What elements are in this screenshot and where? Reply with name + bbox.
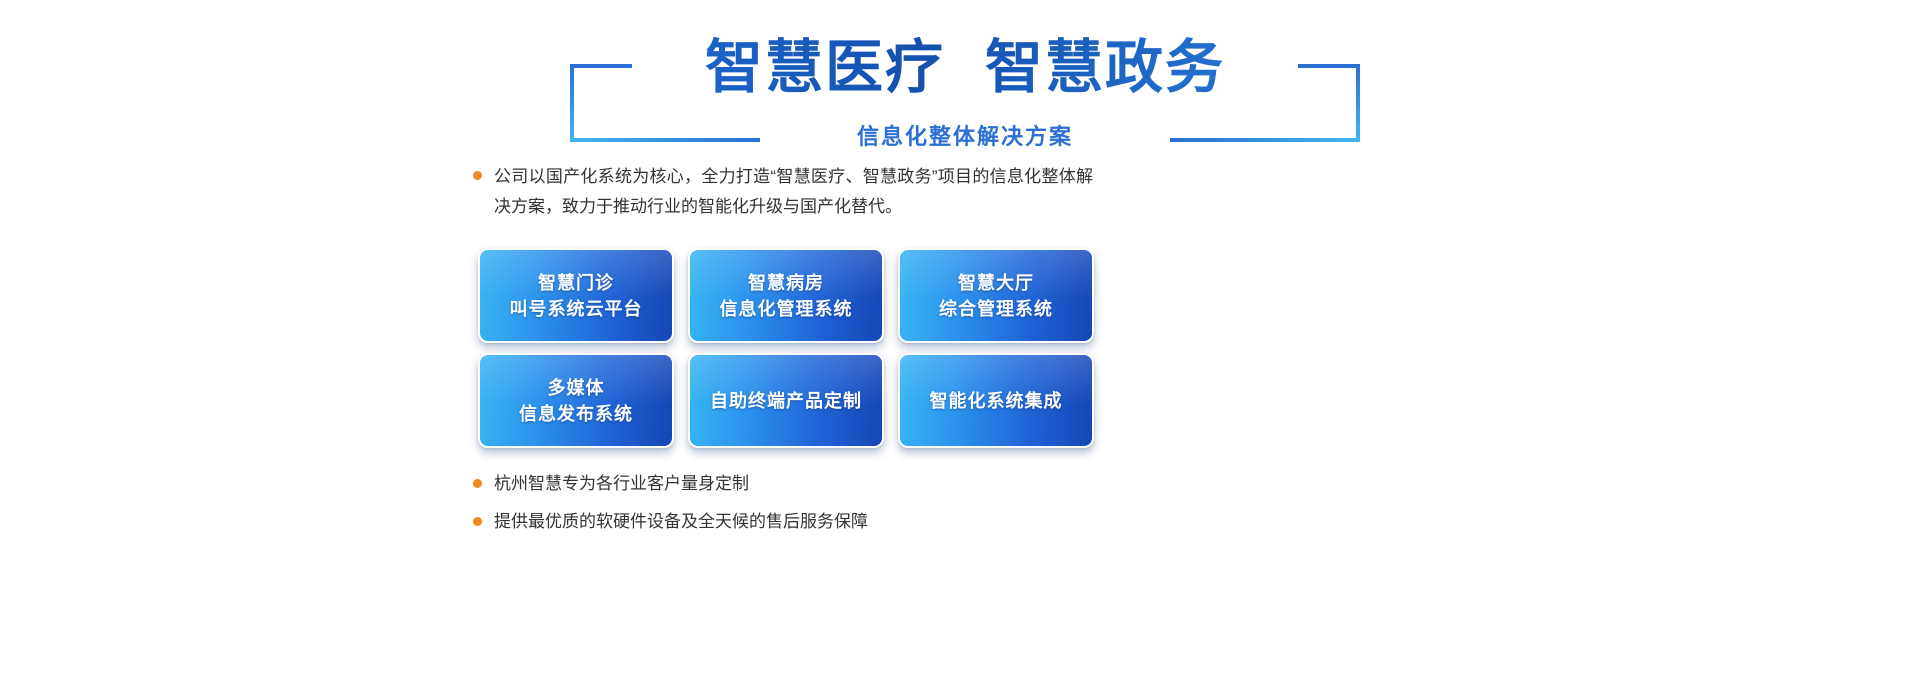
solution-card-label: 智慧门诊 叫号系统云平台 xyxy=(502,270,651,322)
solution-card-label: 自助终端产品定制 xyxy=(702,388,870,414)
list-item: 杭州智慧专为各行业客户量身定制 xyxy=(473,472,1113,496)
list-item-label: 杭州智慧专为各行业客户量身定制 xyxy=(494,472,749,496)
page-title: 智慧医疗智慧政务 xyxy=(570,32,1360,104)
solution-card[interactable]: 多媒体 信息发布系统 xyxy=(478,353,674,448)
solution-card[interactable]: 智慧病房 信息化管理系统 xyxy=(688,248,884,343)
solution-card[interactable]: 智慧门诊 叫号系统云平台 xyxy=(478,248,674,343)
solution-card[interactable]: 智慧大厅 综合管理系统 xyxy=(898,248,1094,343)
solution-card-label: 多媒体 信息发布系统 xyxy=(511,375,641,427)
solution-card[interactable]: 智能化系统集成 xyxy=(898,353,1094,448)
page-title-part-2: 智慧政务 xyxy=(985,35,1225,100)
intro-paragraph: 公司以国产化系统为核心，全力打造“智慧医疗、智慧政务”项目的信息化整体解决方案，… xyxy=(473,162,1093,222)
bullet-dot-icon xyxy=(473,517,482,526)
solution-card-grid: 智慧门诊 叫号系统云平台 智慧病房 信息化管理系统 智慧大厅 综合管理系统 多媒… xyxy=(478,248,1094,448)
page-subtitle: 信息化整体解决方案 xyxy=(570,124,1360,150)
list-item: 提供最优质的软硬件设备及全天候的售后服务保障 xyxy=(473,510,1113,534)
bullet-dot-icon xyxy=(473,479,482,488)
promo-banner-page: 智慧医疗智慧政务 信息化整体解决方案 公司以国产化系统为核心，全力打造“智慧医疗… xyxy=(0,0,1920,680)
benefit-list: 杭州智慧专为各行业客户量身定制 提供最优质的软硬件设备及全天候的售后服务保障 xyxy=(473,472,1113,548)
solution-card[interactable]: 自助终端产品定制 xyxy=(688,353,884,448)
list-item-label: 提供最优质的软硬件设备及全天候的售后服务保障 xyxy=(494,510,868,534)
bullet-dot-icon xyxy=(473,171,482,180)
solution-card-label: 智能化系统集成 xyxy=(922,388,1071,414)
header-block: 智慧医疗智慧政务 信息化整体解决方案 xyxy=(570,22,1360,142)
solution-card-label: 智慧病房 信息化管理系统 xyxy=(712,270,861,322)
intro-paragraph-text: 公司以国产化系统为核心，全力打造“智慧医疗、智慧政务”项目的信息化整体解决方案，… xyxy=(494,162,1093,222)
page-title-part-1: 智慧医疗 xyxy=(705,35,945,100)
solution-card-label: 智慧大厅 综合管理系统 xyxy=(931,270,1061,322)
